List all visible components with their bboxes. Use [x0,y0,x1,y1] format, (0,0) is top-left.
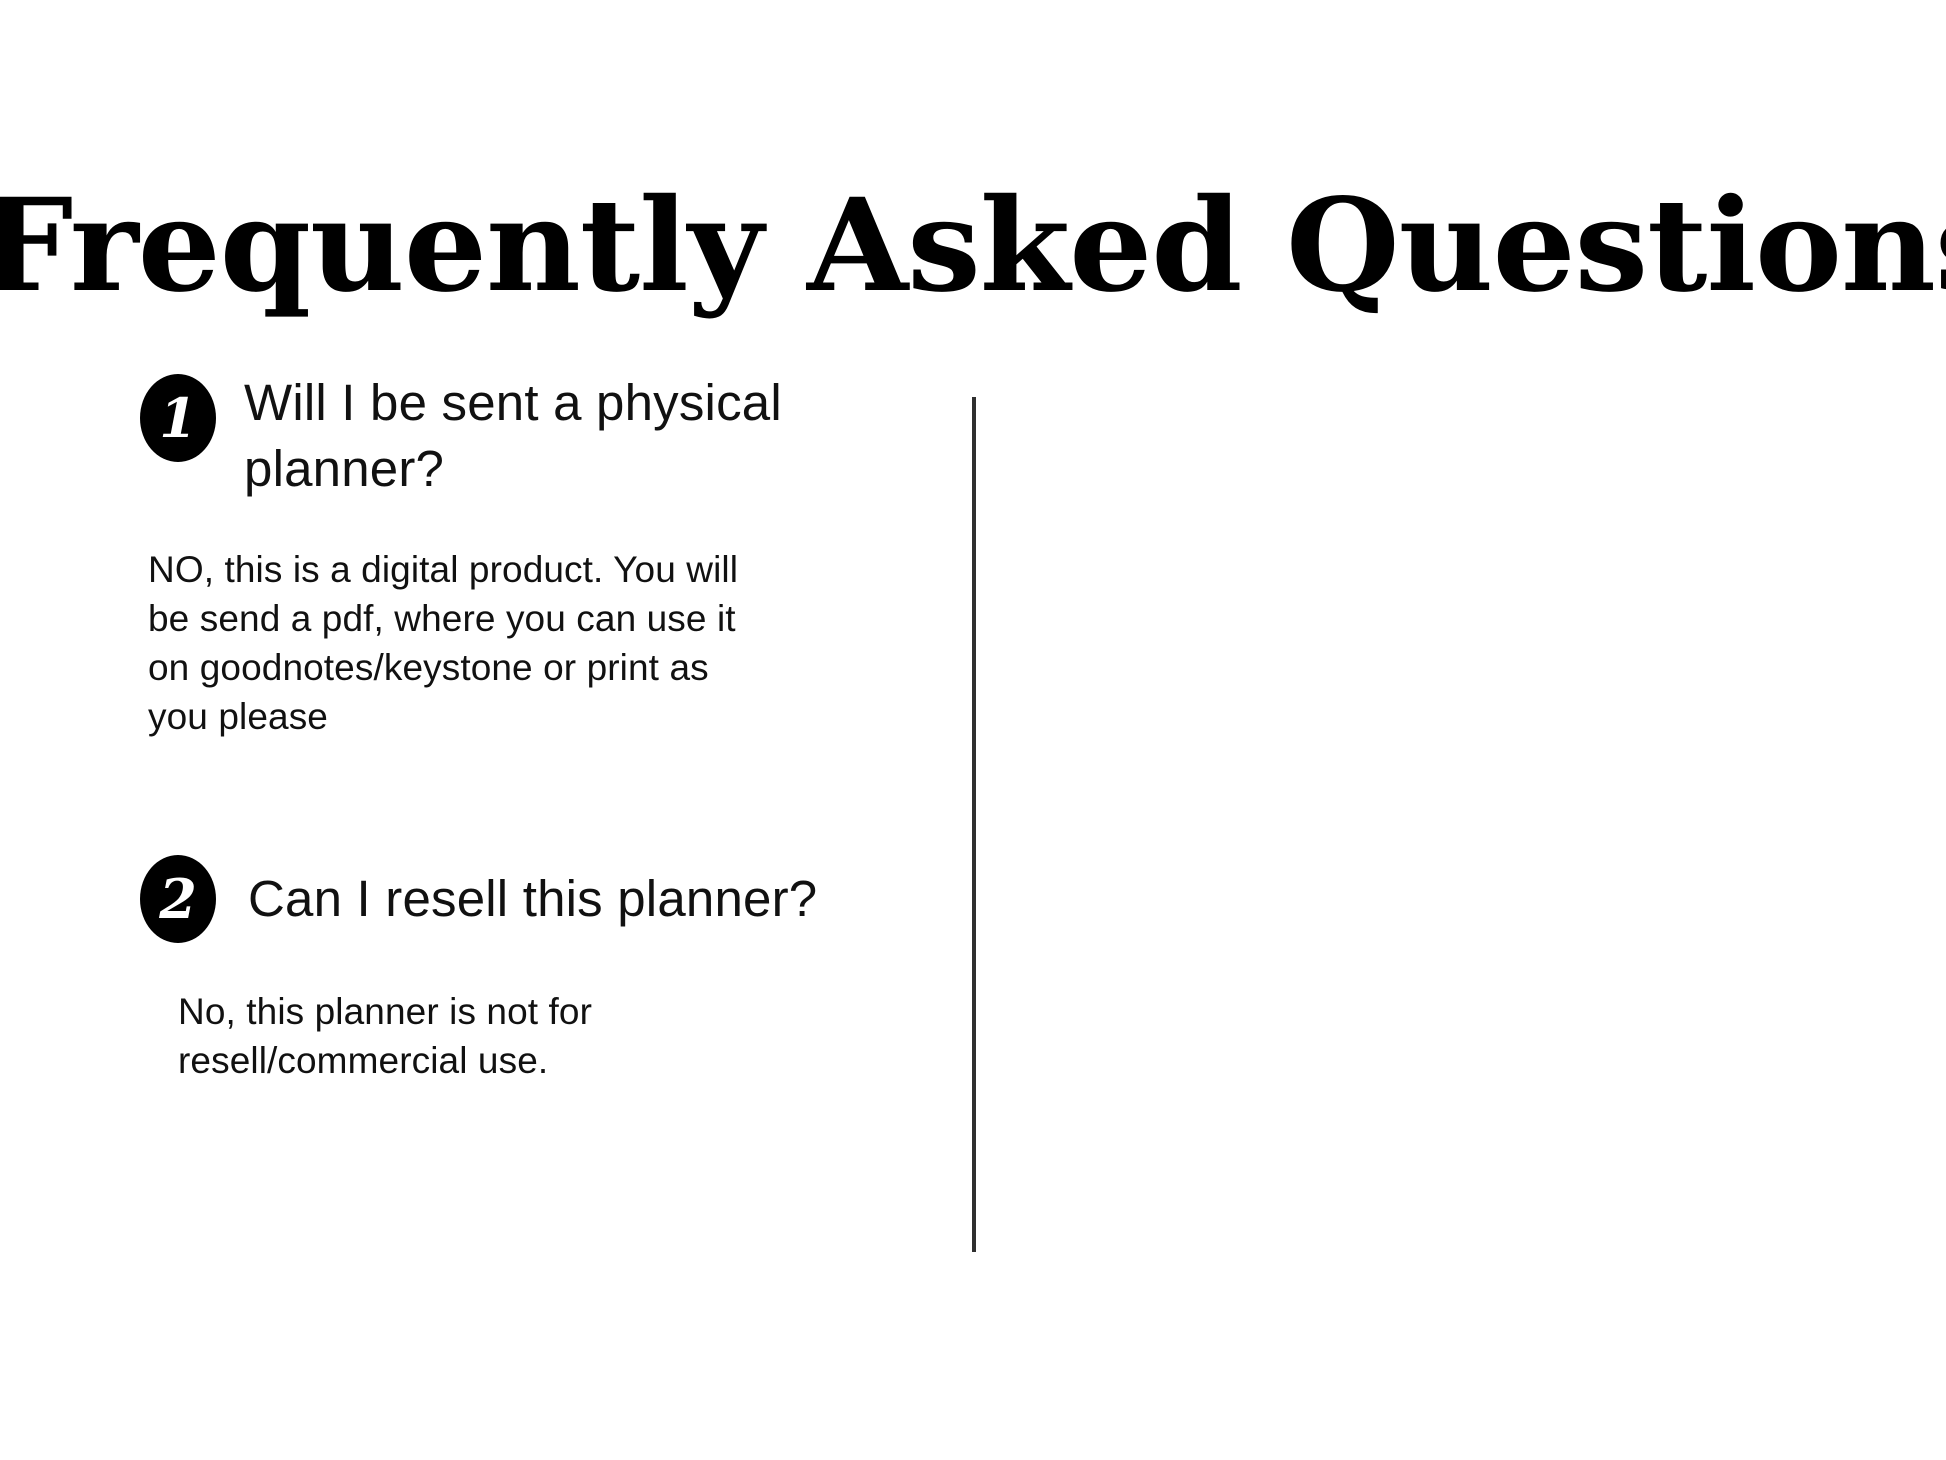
number-badge-2: 2 [140,855,216,943]
page-title: Frequently Asked Questions [0,182,1946,310]
faq-item-2: 2 Can I resell this planner? No, this pl… [140,855,930,1085]
faq-page: Frequently Asked Questions 1 Will I be s… [0,0,1946,1460]
faq-item-2-question: Can I resell this planner? [248,866,817,932]
column-divider [972,397,976,1252]
number-badge-1: 1 [140,374,216,462]
faq-item-2-header: 2 Can I resell this planner? [140,855,930,943]
faq-item-1-header: 1 Will I be sent a physical planner? [140,370,840,503]
faq-item-2-answer: No, this planner is not for resell/comme… [178,987,738,1085]
faq-item-1-answer: NO, this is a digital product. You will … [148,545,768,742]
faq-item-1: 1 Will I be sent a physical planner? NO,… [140,370,840,741]
faq-item-1-question: Will I be sent a physical planner? [244,370,804,503]
